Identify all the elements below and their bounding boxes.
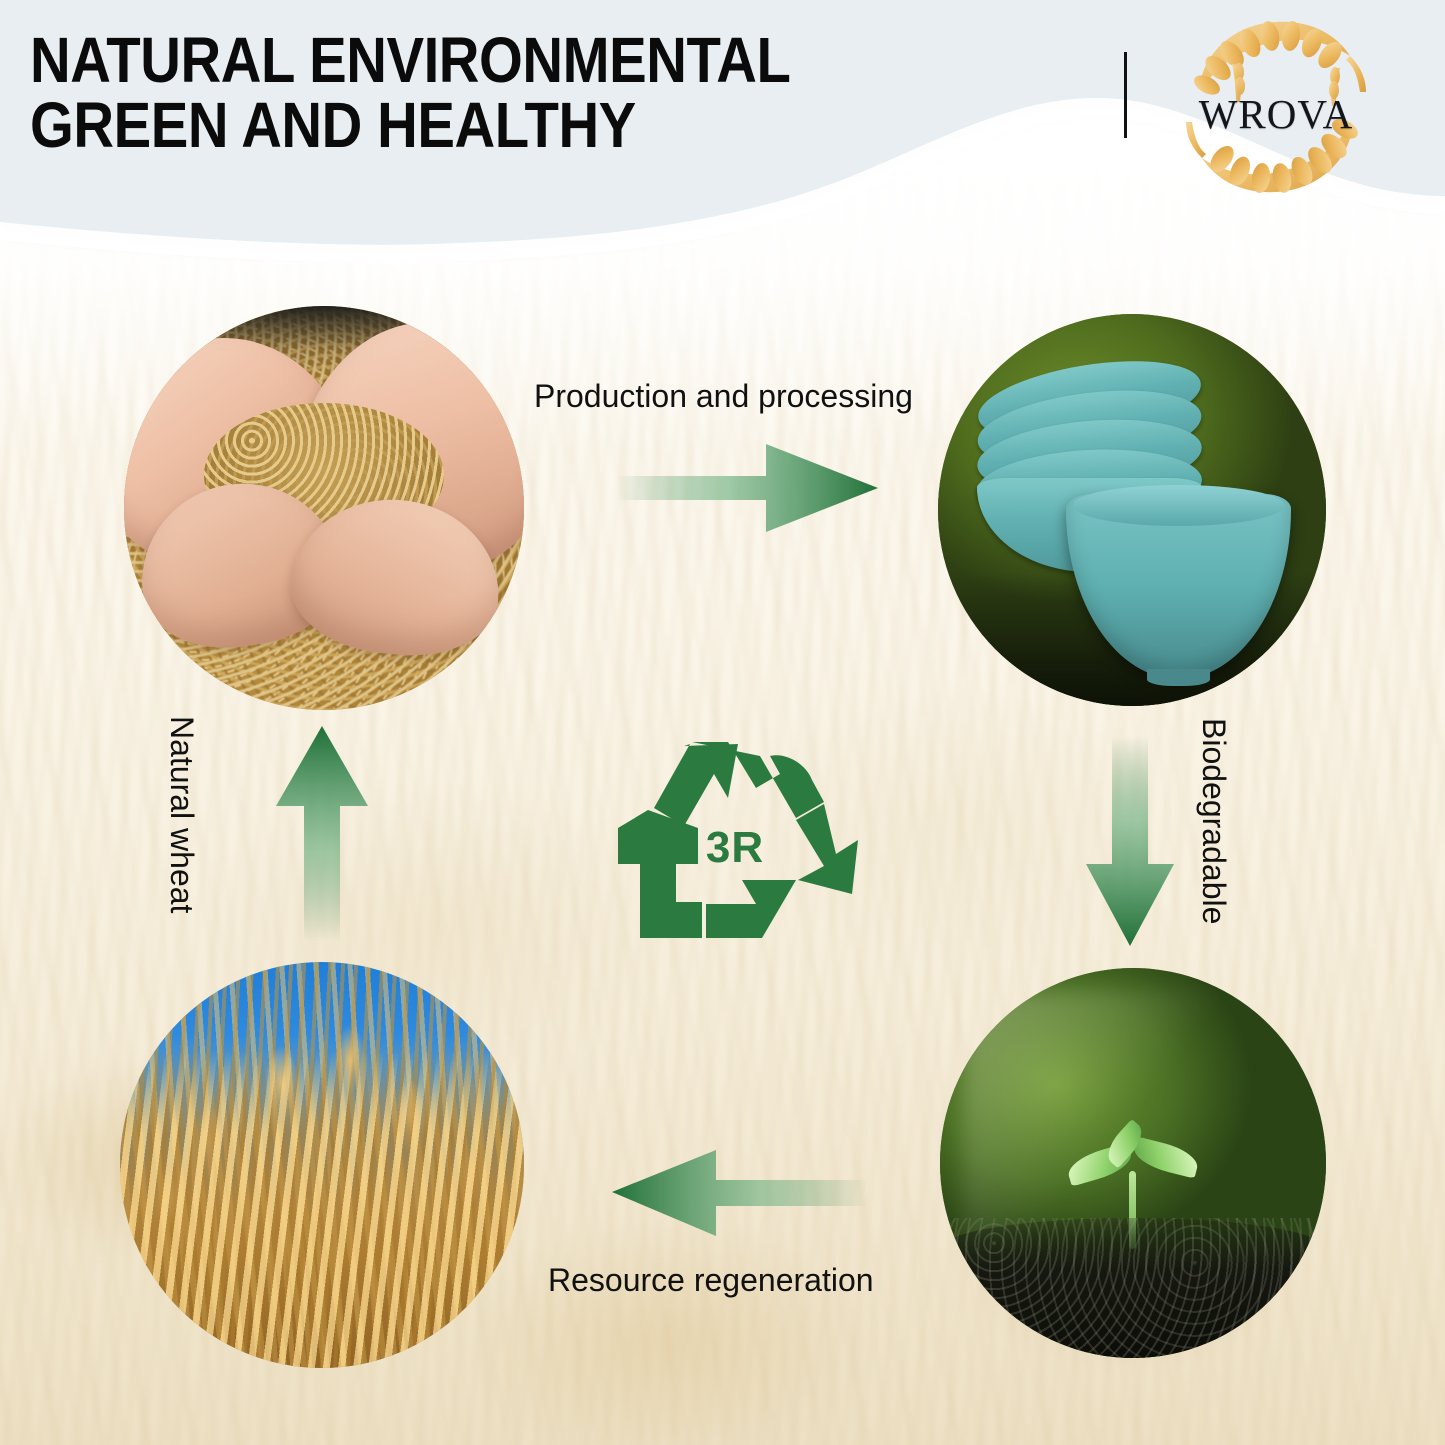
label-biodegradable: Biodegradable bbox=[1195, 718, 1232, 924]
label-natural-wheat: Natural wheat bbox=[163, 716, 200, 913]
wheat-foreground bbox=[120, 1051, 524, 1368]
soil-mound bbox=[940, 1218, 1326, 1358]
label-production-and-processing: Production and processing bbox=[534, 378, 913, 415]
label-resource-regeneration: Resource regeneration bbox=[548, 1262, 874, 1299]
header-band: NATURAL ENVIRONMENTAL GREEN AND HEALTHY bbox=[0, 0, 1445, 262]
page-title: NATURAL ENVIRONMENTAL GREEN AND HEALTHY bbox=[30, 28, 963, 159]
infographic-page: 3R Production and processing Biodegradab… bbox=[0, 0, 1445, 1445]
arrow-up-icon bbox=[272, 722, 372, 944]
recycle-label: 3R bbox=[610, 730, 860, 966]
green-seedling-in-soil-photo bbox=[940, 968, 1326, 1358]
vertical-divider-icon bbox=[1124, 52, 1127, 138]
stacked-teal-wheat-straw-bowls-photo bbox=[938, 314, 1326, 706]
hands-holding-wheat-grains-photo bbox=[124, 306, 524, 710]
recycle-symbol: 3R bbox=[610, 730, 860, 966]
arrow-right-icon bbox=[616, 438, 886, 538]
arrow-down-icon bbox=[1082, 736, 1178, 952]
arrow-left-icon bbox=[610, 1146, 870, 1242]
brand-name: WROVA bbox=[1160, 90, 1392, 138]
golden-wheat-ears-photo bbox=[120, 962, 524, 1368]
brand-logo: WROVA bbox=[1160, 12, 1392, 202]
